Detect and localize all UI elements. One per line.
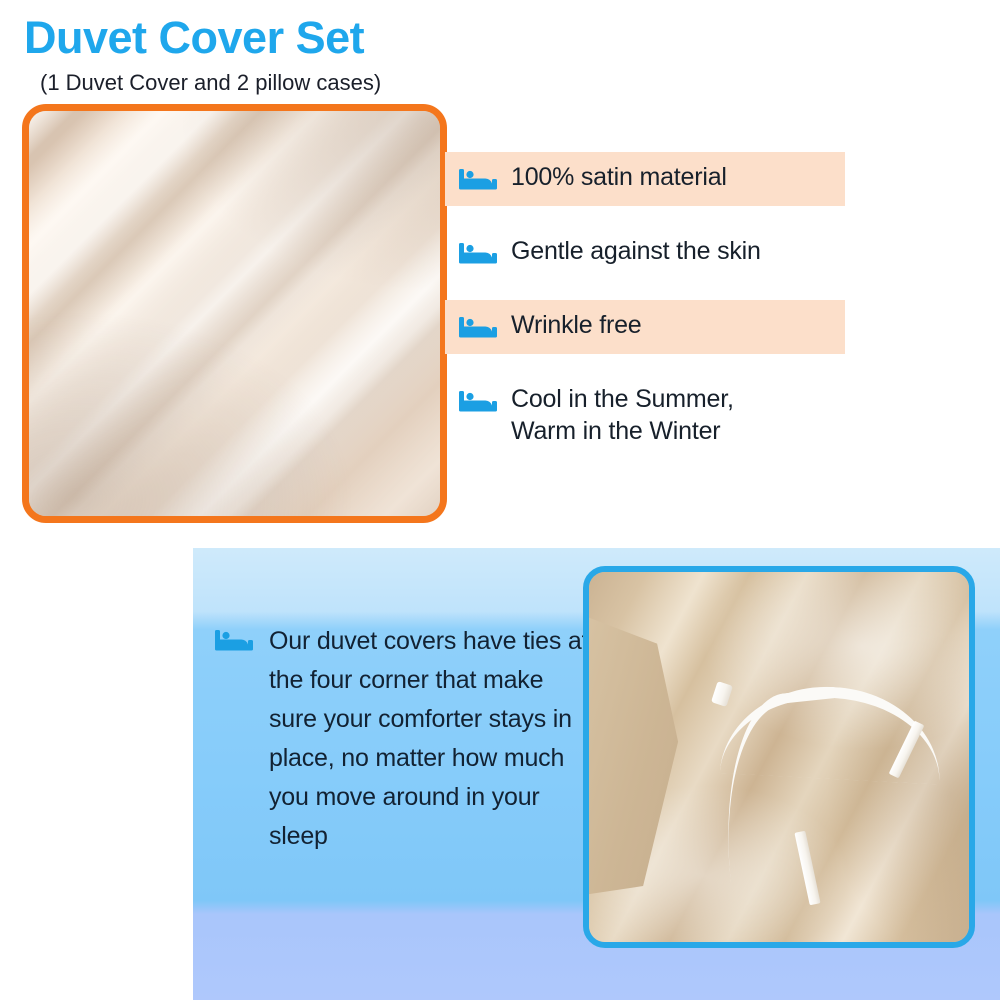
feature-label: Cool in the Summer, Warm in the Winter <box>511 384 734 447</box>
page-subtitle: (1 Duvet Cover and 2 pillow cases) <box>40 71 381 95</box>
page-title: Duvet Cover Set <box>24 14 364 61</box>
feature-label: Gentle against the skin <box>511 236 761 268</box>
feature-row: Gentle against the skin <box>445 226 845 280</box>
fabric-photo <box>22 104 447 523</box>
feature-label: Wrinkle free <box>511 310 642 342</box>
fabric-satin-shadow <box>22 104 447 523</box>
feature-row: Wrinkle free <box>445 300 845 354</box>
bed-icon <box>459 389 499 418</box>
feature-row: 100% satin material <box>445 152 845 206</box>
bed-icon <box>459 315 499 344</box>
tie-photo <box>583 566 975 948</box>
tie-description-row: Our duvet covers have ties at the four c… <box>215 622 597 856</box>
feature-row: Cool in the Summer, Warm in the Winter <box>445 374 845 457</box>
tie-description-block: Our duvet covers have ties at the four c… <box>215 622 597 856</box>
tie-description-text: Our duvet covers have ties at the four c… <box>269 622 597 856</box>
feature-list: 100% satin material Gentle against the s… <box>445 152 845 477</box>
top-section: Duvet Cover Set (1 Duvet Cover and 2 pil… <box>0 0 1000 548</box>
bed-icon <box>459 241 499 270</box>
bed-icon <box>215 628 255 657</box>
feature-label: 100% satin material <box>511 162 727 194</box>
bottom-section: Our duvet covers have ties at the four c… <box>193 548 1000 1000</box>
bed-icon <box>459 167 499 196</box>
